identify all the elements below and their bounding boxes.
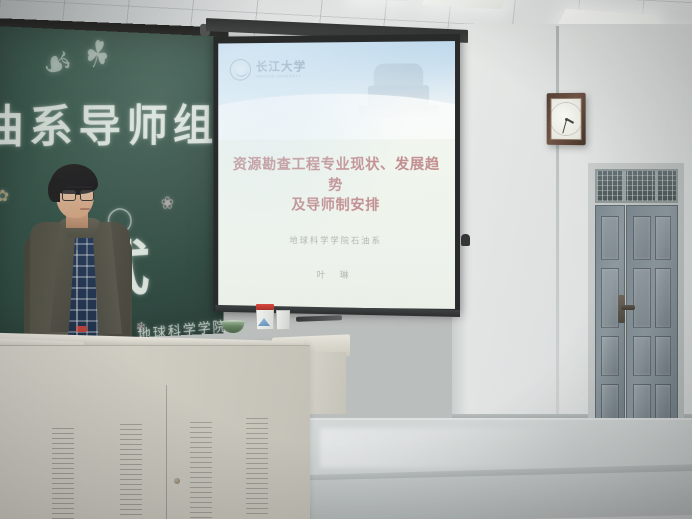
university-name: 长江大学 <box>256 60 306 72</box>
door-leaf-right[interactable] <box>626 205 678 433</box>
cabinet-lock-icon[interactable] <box>174 478 180 484</box>
slide-presenter: 叶 琳 <box>218 267 455 282</box>
presenter-hair-side <box>48 178 60 202</box>
second-white-box <box>276 310 290 330</box>
cabinet-vent <box>120 420 142 519</box>
projection-screen: 长江大学 YANGTZE UNIVERSITY 资源勘查工程专业现状、发展趋势 … <box>213 34 460 314</box>
cabinet-seam <box>166 385 167 519</box>
floor-reflection <box>320 428 692 468</box>
classroom-door[interactable] <box>588 163 684 439</box>
cabinet-vent <box>246 414 268 514</box>
wall-corner <box>556 26 559 446</box>
pointer-stick[interactable] <box>296 315 342 322</box>
glasses-icon <box>62 190 96 201</box>
transom-bar <box>655 171 658 201</box>
slide-banner: 长江大学 YANGTZE UNIVERSITY <box>218 41 455 140</box>
chalkboard-heading: 油系导师组 <box>0 91 219 157</box>
cabinet-vent <box>190 418 212 518</box>
chalk-flower-icon: ✿ <box>0 186 9 205</box>
university-crest-icon <box>230 59 251 81</box>
university-name-en: YANGTZE UNIVERSITY <box>256 74 306 78</box>
presenter-mouth <box>80 208 90 210</box>
slide-surface: 长江大学 YANGTZE UNIVERSITY 资源勘查工程专业现状、发展趋势 … <box>218 41 455 309</box>
slide-title-line1: 资源勘查工程专业现状、发展趋势 <box>218 155 455 196</box>
slide-department: 地球科学学院石油系 <box>218 234 455 247</box>
wall-clock <box>547 93 586 145</box>
cabinet-vent <box>52 424 74 519</box>
green-bowl <box>222 322 244 333</box>
presenter <box>18 150 136 365</box>
wall-mounted-fixture <box>461 234 470 246</box>
clock-face <box>551 98 582 140</box>
presenter-brow <box>66 186 92 188</box>
transom-mesh <box>597 171 676 201</box>
door-lever-handle-icon[interactable] <box>621 305 635 310</box>
white-box <box>256 308 274 330</box>
university-logo: 长江大学 YANGTZE UNIVERSITY <box>230 58 306 80</box>
transom-bar <box>623 171 626 201</box>
door-transom-window <box>595 169 678 203</box>
slide-title-line2: 及导师制安排 <box>218 196 455 217</box>
chalk-plum-icon: ❀ <box>161 194 174 214</box>
classroom-photo: ☙ ☘ ✿ ◯ ❀ ❄ 油系导师组 式 地球科学学院 2019.4.1 <box>0 0 692 519</box>
slide-body: 资源勘查工程专业现状、发展趋势 及导师制安排 地球科学学院石油系 叶 琳 201… <box>218 139 455 309</box>
clock-center-dot <box>565 118 568 121</box>
white-box-red-lid <box>256 304 274 310</box>
